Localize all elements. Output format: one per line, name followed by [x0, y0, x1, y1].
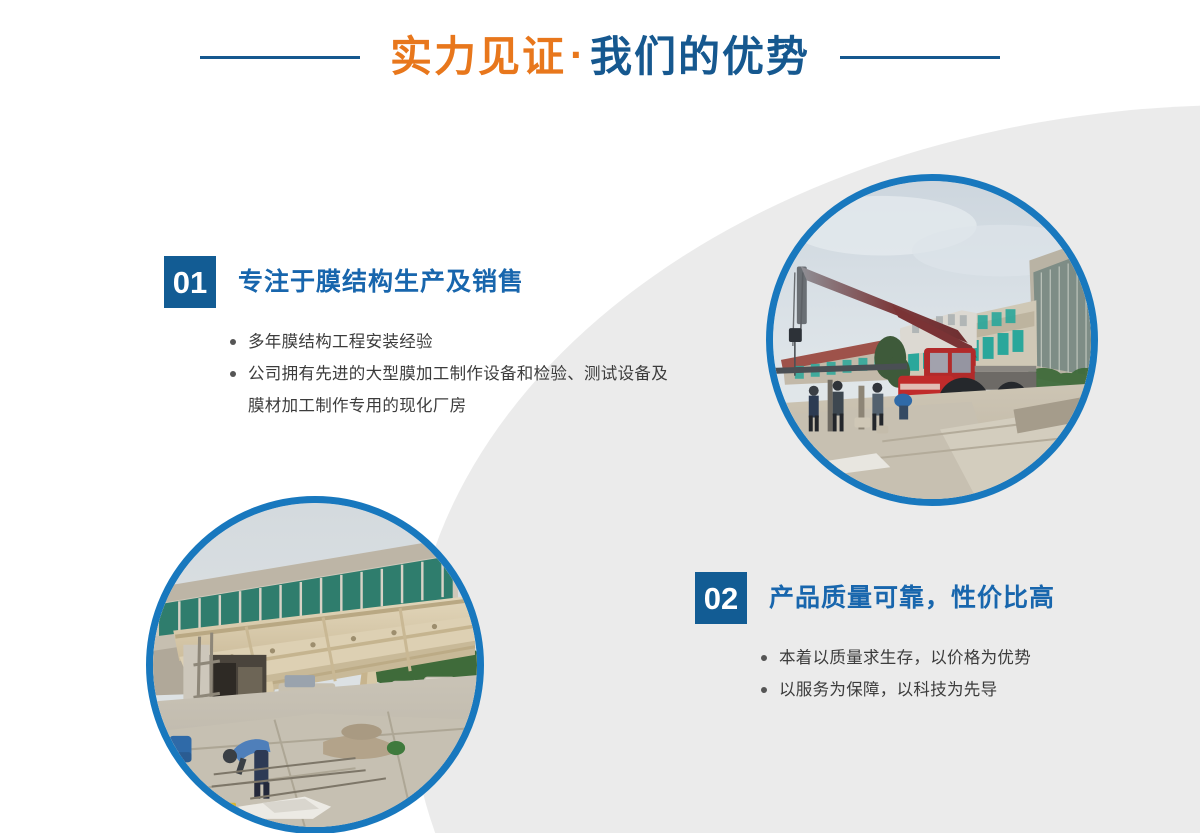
- header-rule-right: [840, 56, 1000, 59]
- list-item: 公司拥有先进的大型膜加工制作设备和检验、测试设备及膜材加工制作专用的现化厂房: [228, 358, 668, 422]
- feature-02-bullet-list: 本着以质量求生存，以价格为优势 以服务为保障，以科技为先导: [759, 642, 1165, 706]
- feature-02-number-badge: 02: [695, 572, 747, 624]
- list-item: 本着以质量求生存，以价格为优势: [759, 642, 1165, 674]
- list-item: 以服务为保障，以科技为先导: [759, 674, 1165, 706]
- feature-block-02: 02 产品质量可靠，性价比高 本着以质量求生存，以价格为优势 以服务为保障，以科…: [695, 572, 1165, 706]
- page-title-highlight: 实力见证: [390, 36, 566, 78]
- page-title-subject: 我们的优势: [590, 36, 810, 78]
- advantages-banner: 实力见证 · 我们的优势 01 专注于膜结构生产及销售 多年膜结构工程安装经验 …: [0, 0, 1200, 833]
- feature-01-head: 01 专注于膜结构生产及销售: [164, 256, 684, 308]
- feature-02-title: 产品质量可靠，性价比高: [769, 583, 1055, 613]
- feature-01-title: 专注于膜结构生产及销售: [238, 267, 524, 297]
- feature-block-01: 01 专注于膜结构生产及销售 多年膜结构工程安装经验 公司拥有先进的大型膜加工制…: [164, 256, 684, 423]
- feature-02-head: 02 产品质量可靠，性价比高: [695, 572, 1165, 624]
- crane-truck-site-photo: [766, 174, 1098, 506]
- section-header: 实力见证 · 我们的优势: [0, 24, 1200, 90]
- crane-truck-site-photo-inner: [773, 181, 1091, 499]
- feature-01-number-badge: 01: [164, 256, 216, 308]
- list-item: 多年膜结构工程安装经验: [228, 326, 684, 358]
- feature-01-bullet-list: 多年膜结构工程安装经验 公司拥有先进的大型膜加工制作设备和检验、测试设备及膜材加…: [228, 326, 684, 423]
- header-rule-left: [200, 56, 360, 59]
- membrane-canopy-photo-inner: [153, 503, 477, 827]
- membrane-canopy-photo: [146, 496, 484, 833]
- page-title-separator: ·: [566, 34, 590, 76]
- page-title: 实力见证 · 我们的优势: [390, 36, 810, 78]
